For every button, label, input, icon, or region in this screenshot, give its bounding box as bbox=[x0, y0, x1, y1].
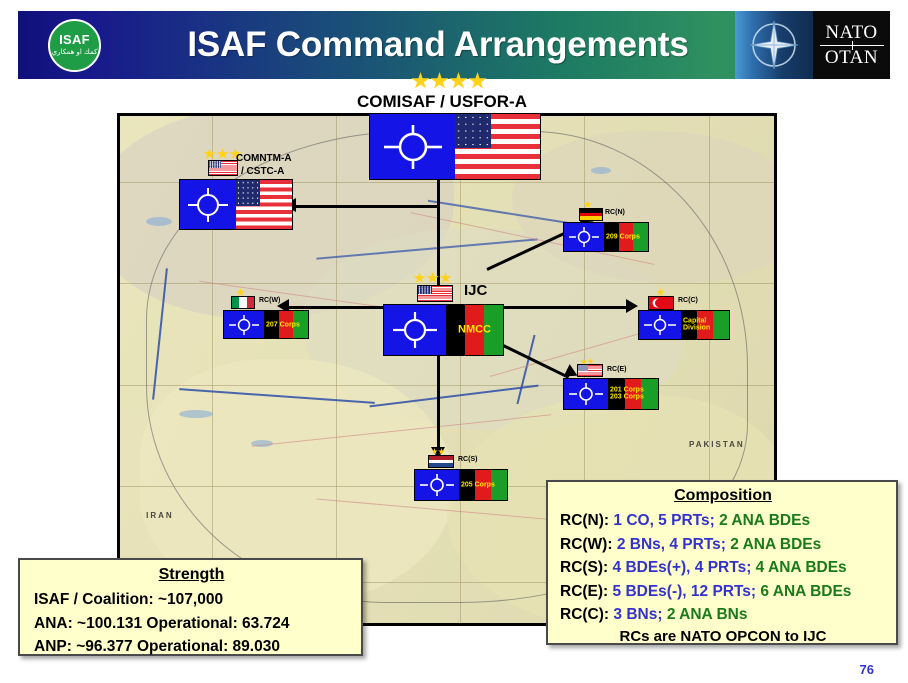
composition-row: RC(E): 5 BDEs(-), 12 PRTs; 6 ANA BDEs bbox=[560, 580, 886, 604]
nato-roundel-icon bbox=[419, 473, 455, 497]
nato-roundel-icon bbox=[568, 382, 604, 406]
nato-flag bbox=[384, 305, 446, 355]
star-icon bbox=[411, 72, 430, 90]
composition-rc-label: RC(S): bbox=[560, 559, 608, 576]
page-title: ISAF Command Arrangements bbox=[128, 19, 748, 71]
rcw-label: RC(W) bbox=[259, 297, 280, 305]
rcs-corps-label: 205 Corps bbox=[461, 481, 495, 488]
afghanistan-flag: 209 Corps bbox=[604, 223, 648, 251]
composition-row: RC(C): 3 BNs; 2 ANA BNs bbox=[560, 603, 886, 627]
star-icon bbox=[449, 72, 468, 90]
nato-roundel-icon bbox=[391, 310, 439, 350]
composition-rc-label: RC(W): bbox=[560, 536, 613, 553]
nato-word-top: NATO bbox=[825, 23, 877, 43]
comntm-label-line1: COMNTM-A bbox=[236, 153, 292, 164]
ijc-label: IJC bbox=[464, 283, 487, 300]
arrow-comisaf-to-ntma-horizontal bbox=[295, 205, 438, 208]
composition-footer: RCs are NATO OPCON to IJC bbox=[560, 628, 886, 645]
rcs-rank-stars bbox=[431, 448, 445, 455]
star-icon bbox=[438, 448, 445, 455]
nato-flag bbox=[180, 180, 236, 229]
us-flag-small bbox=[208, 160, 238, 176]
strength-box-title: Strength bbox=[34, 566, 349, 584]
rce-corps-label-1: 201 Corps bbox=[610, 387, 644, 394]
strength-box: Strength ISAF / Coalition: ~107,000 ANA:… bbox=[18, 558, 363, 656]
comntm-label-line2: / CSTC-A bbox=[241, 166, 284, 177]
map-label-iran: IRAN bbox=[146, 511, 174, 520]
composition-blue-text: 2 BNs, 4 PRTs; bbox=[617, 536, 726, 553]
rcc-flag-pair: Capital Division bbox=[638, 310, 730, 340]
star-icon bbox=[216, 148, 229, 160]
arrow-ijc-to-rcs bbox=[437, 355, 440, 450]
composition-blue-text: 1 CO, 5 PRTs; bbox=[613, 512, 714, 529]
slide-canvas: ISAF كمك او همكاري ISAF Command Arrangem… bbox=[0, 0, 908, 683]
nato-flag bbox=[415, 470, 459, 500]
afghanistan-flag: Capital Division bbox=[681, 311, 729, 339]
star-icon bbox=[426, 272, 439, 284]
rcn-label: RC(N) bbox=[605, 209, 625, 217]
composition-blue-text: 3 BNs; bbox=[613, 606, 662, 623]
afghanistan-flag: 201 Corps 203 Corps bbox=[608, 379, 658, 409]
netherlands-flag bbox=[428, 455, 454, 468]
us-flag bbox=[236, 180, 292, 229]
slide-header-band: ISAF كمك او همكاري ISAF Command Arrangem… bbox=[18, 11, 890, 79]
rcs-flag-pair: 205 Corps bbox=[414, 469, 508, 501]
afghanistan-flag: NMCC bbox=[446, 305, 503, 355]
rce-corps-label-2: 203 Corps bbox=[610, 394, 644, 401]
rcw-corps-label: 207 Corps bbox=[266, 321, 300, 328]
rcc-corps-label: Capital Division bbox=[683, 318, 727, 333]
composition-row: RC(S): 4 BDEs(+), 4 PRTs; 4 ANA BDEs bbox=[560, 556, 886, 580]
star-icon bbox=[431, 448, 438, 455]
isaf-emblem-circle: ISAF كمك او همكاري bbox=[48, 19, 101, 72]
nato-flag bbox=[639, 311, 681, 339]
nato-roundel-icon bbox=[228, 314, 260, 336]
nato-flag bbox=[224, 311, 264, 338]
us-flag-small bbox=[417, 285, 453, 302]
nato-flag bbox=[564, 223, 604, 251]
nato-roundel-icon bbox=[568, 226, 600, 248]
afghanistan-flag: 205 Corps bbox=[459, 470, 507, 500]
composition-blue-text: 5 BDEs(-), 12 PRTs; bbox=[613, 583, 757, 600]
nato-compass-star-icon bbox=[747, 18, 801, 72]
map-label-pakistan: PAKISTAN bbox=[689, 440, 745, 449]
us-flag bbox=[455, 114, 540, 179]
nmcc-label: NMCC bbox=[446, 325, 503, 336]
star-icon bbox=[439, 272, 452, 284]
composition-green-text: 2 ANA BNs bbox=[667, 606, 748, 623]
comisaf-flag-pair bbox=[369, 113, 541, 180]
strength-line-isaf: ISAF / Coalition: ~107,000 bbox=[34, 588, 349, 612]
arrow-head-icon bbox=[626, 299, 638, 313]
strength-line-anp: ANP: ~96.377 Operational: 89.030 bbox=[34, 635, 349, 659]
nato-compass-panel bbox=[735, 11, 813, 79]
rcn-flag-pair: 209 Corps bbox=[563, 222, 649, 252]
composition-rc-label: RC(E): bbox=[560, 583, 608, 600]
composition-box-title: Composition bbox=[560, 487, 886, 505]
ijc-rank-stars bbox=[413, 272, 452, 284]
composition-green-text: 2 ANA BDEs bbox=[719, 512, 810, 529]
isaf-logo-text: ISAF bbox=[59, 33, 90, 46]
nato-flag bbox=[564, 379, 608, 409]
composition-green-text: 6 ANA BDEs bbox=[760, 583, 851, 600]
rce-flag-pair: 201 Corps 203 Corps bbox=[563, 378, 659, 410]
nato-roundel-icon bbox=[382, 123, 444, 171]
isaf-logo: ISAF كمك او همكاري bbox=[40, 17, 118, 74]
nato-word-bottom: OTAN bbox=[825, 48, 878, 68]
nato-wordmark-panel: NATO OTAN bbox=[813, 11, 890, 79]
composition-rc-label: RC(N): bbox=[560, 512, 609, 529]
rcn-corps-label: 209 Corps bbox=[606, 233, 640, 240]
arrow-ijc-to-rcc bbox=[502, 306, 627, 309]
rce-label: RC(E) bbox=[607, 366, 626, 374]
comisaf-label: COMISAF / USFOR-A bbox=[357, 92, 527, 112]
star-icon bbox=[468, 72, 487, 90]
ijc-flag-pair: NMCC bbox=[383, 304, 504, 356]
isaf-logo-script: كمك او همكاري bbox=[52, 49, 98, 56]
rcs-label: RC(S) bbox=[458, 456, 477, 464]
unit-comisaf-usfor-a[interactable] bbox=[369, 113, 541, 180]
page-number: 76 bbox=[860, 662, 874, 677]
composition-rc-label: RC(C): bbox=[560, 606, 609, 623]
composition-box: Composition RC(N): 1 CO, 5 PRTs; 2 ANA B… bbox=[546, 480, 898, 645]
italy-flag bbox=[231, 296, 255, 309]
germany-flag bbox=[579, 208, 603, 221]
composition-row: RC(N): 1 CO, 5 PRTs; 2 ANA BDEs bbox=[560, 509, 886, 533]
star-icon bbox=[430, 72, 449, 90]
afghanistan-flag: 207 Corps bbox=[264, 311, 308, 338]
nato-divider bbox=[820, 45, 884, 46]
turkey-flag bbox=[648, 296, 674, 310]
us-flag-small bbox=[577, 364, 603, 377]
star-icon bbox=[413, 272, 426, 284]
nato-flag bbox=[370, 114, 455, 179]
comisaf-rank-stars bbox=[411, 72, 487, 90]
nato-logo: NATO OTAN bbox=[735, 11, 890, 79]
comntm-flag-pair bbox=[179, 179, 293, 230]
composition-blue-text: 4 BDEs(+), 4 PRTs; bbox=[613, 559, 752, 576]
composition-row: RC(W): 2 BNs, 4 PRTs; 2 ANA BDEs bbox=[560, 533, 886, 557]
nato-roundel-icon bbox=[643, 314, 677, 336]
rcw-flag-pair: 207 Corps bbox=[223, 310, 309, 339]
strength-line-ana: ANA: ~100.131 Operational: 63.724 bbox=[34, 612, 349, 636]
rcc-label: RC(C) bbox=[678, 297, 698, 305]
composition-green-text: 2 ANA BDEs bbox=[730, 536, 821, 553]
composition-green-text: 4 ANA BDEs bbox=[756, 559, 847, 576]
star-icon bbox=[203, 148, 216, 160]
nato-roundel-icon bbox=[186, 186, 230, 224]
